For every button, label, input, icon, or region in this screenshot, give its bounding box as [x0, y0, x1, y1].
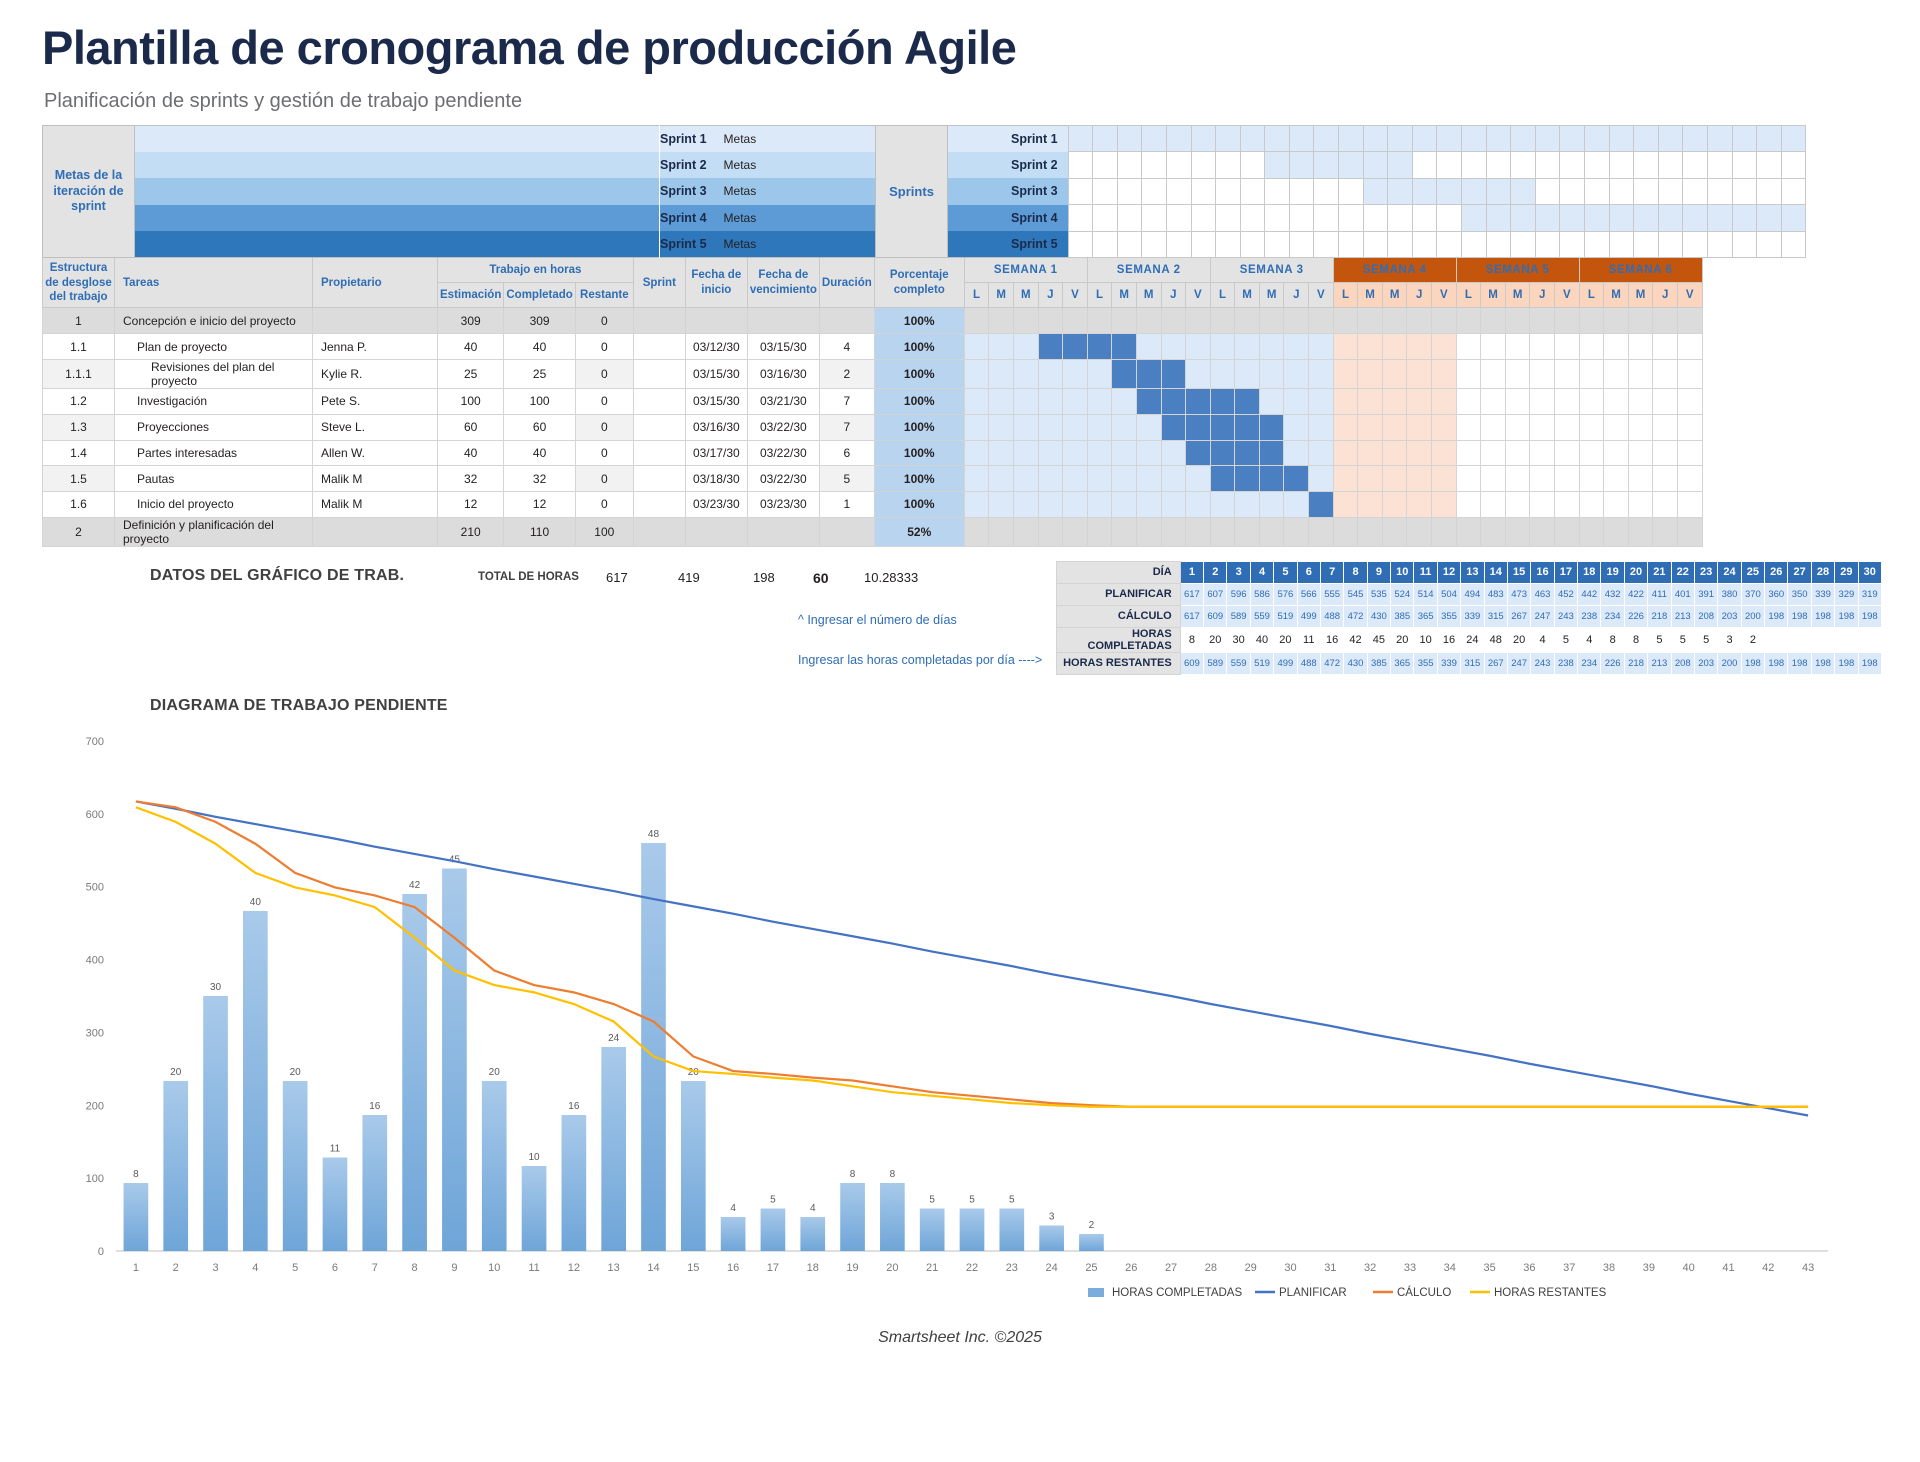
gantt-cell[interactable]	[1407, 517, 1432, 546]
gantt-cell[interactable]	[1112, 466, 1137, 492]
cell-owner[interactable]: Malik M	[313, 466, 438, 492]
sprint-timeline-cell[interactable]	[1437, 231, 1462, 258]
gantt-cell[interactable]	[1432, 414, 1457, 440]
gantt-bar-cell[interactable]	[1186, 440, 1211, 466]
hours-completed-cell[interactable]: 40	[1250, 627, 1273, 652]
cell-owner[interactable]: Kylie R.	[313, 359, 438, 388]
sprint-timeline-cell-filled[interactable]	[1388, 125, 1413, 152]
gantt-cell[interactable]	[1186, 359, 1211, 388]
gantt-cell[interactable]	[1309, 517, 1334, 546]
gantt-cell[interactable]	[1112, 492, 1137, 518]
gantt-bar-cell[interactable]	[1161, 359, 1186, 388]
gantt-cell[interactable]	[1579, 414, 1604, 440]
gantt-cell[interactable]	[1555, 517, 1580, 546]
sprint-timeline-cell[interactable]	[1609, 178, 1634, 205]
cell-sprint[interactable]	[633, 334, 685, 360]
sprint-timeline-cell-filled[interactable]	[1535, 205, 1560, 232]
sprint-timeline-cell[interactable]	[1658, 231, 1683, 258]
gantt-cell[interactable]	[1186, 517, 1211, 546]
sprint-timeline-cell[interactable]	[1388, 231, 1413, 258]
cell-start-date[interactable]: 03/15/30	[685, 359, 747, 388]
sprint-timeline-cell-filled[interactable]	[1634, 205, 1659, 232]
cell-task[interactable]: Plan de proyecto	[115, 334, 313, 360]
gantt-cell[interactable]	[1284, 517, 1309, 546]
gantt-cell[interactable]	[1530, 359, 1555, 388]
cell-due-date[interactable]: 03/15/30	[747, 334, 819, 360]
gantt-cell[interactable]	[1604, 388, 1629, 414]
sprint-timeline-cell[interactable]	[1068, 178, 1093, 205]
gantt-cell[interactable]	[1481, 414, 1506, 440]
gantt-cell[interactable]	[1063, 492, 1088, 518]
gantt-cell[interactable]	[1628, 359, 1653, 388]
gantt-cell[interactable]	[1628, 492, 1653, 518]
gantt-cell[interactable]	[1456, 466, 1481, 492]
table-row[interactable]: 1.6Inicio del proyectoMalik M1212003/23/…	[43, 492, 1703, 518]
sprint-timeline-cell-filled[interactable]	[1289, 125, 1314, 152]
sprint-timeline-cell[interactable]	[1068, 231, 1093, 258]
gantt-cell[interactable]	[1456, 440, 1481, 466]
cell-completed[interactable]: 110	[504, 517, 575, 546]
gantt-cell[interactable]	[1358, 414, 1383, 440]
gantt-cell[interactable]	[1382, 359, 1407, 388]
sprint-timeline-cell[interactable]	[1658, 152, 1683, 179]
gantt-cell[interactable]	[1481, 388, 1506, 414]
sprint-timeline-cell[interactable]	[1191, 231, 1216, 258]
gantt-cell[interactable]	[1505, 334, 1530, 360]
cell-task[interactable]: Partes interesadas	[115, 440, 313, 466]
gantt-cell[interactable]	[1382, 334, 1407, 360]
sprint-timeline-cell[interactable]	[1658, 178, 1683, 205]
gantt-cell[interactable]	[1481, 440, 1506, 466]
hours-completed-cell[interactable]: 16	[1320, 627, 1343, 652]
gantt-cell[interactable]	[1333, 334, 1358, 360]
cell-due-date[interactable]: 03/23/30	[747, 492, 819, 518]
gantt-cell[interactable]	[1382, 414, 1407, 440]
sprint-timeline-cell[interactable]	[1560, 231, 1585, 258]
gantt-cell[interactable]	[1628, 466, 1653, 492]
gantt-cell[interactable]	[1087, 308, 1112, 334]
gantt-cell[interactable]	[1653, 414, 1678, 440]
sprint-timeline-cell[interactable]	[1191, 152, 1216, 179]
sprint-timeline-cell[interactable]	[1757, 178, 1782, 205]
gantt-cell[interactable]	[1505, 466, 1530, 492]
gantt-cell[interactable]	[1456, 359, 1481, 388]
gantt-bar-cell[interactable]	[1210, 414, 1235, 440]
cell-sprint[interactable]	[633, 466, 685, 492]
gantt-bar-cell[interactable]	[1235, 388, 1260, 414]
cell-sprint[interactable]	[633, 388, 685, 414]
sprint-timeline-cell[interactable]	[1265, 178, 1290, 205]
gantt-cell[interactable]	[1530, 466, 1555, 492]
gantt-cell[interactable]	[1284, 492, 1309, 518]
sprint-timeline-cell[interactable]	[1732, 152, 1757, 179]
cell-wbs[interactable]: 1.3	[43, 414, 115, 440]
gantt-cell[interactable]	[989, 388, 1014, 414]
cell-completed[interactable]: 60	[504, 414, 575, 440]
cell-task[interactable]: Revisiones del plan del proyecto	[115, 359, 313, 388]
gantt-cell[interactable]	[1530, 414, 1555, 440]
gantt-bar-cell[interactable]	[1210, 440, 1235, 466]
gantt-cell[interactable]	[1235, 517, 1260, 546]
cell-task[interactable]: Inicio del proyecto	[115, 492, 313, 518]
gantt-cell[interactable]	[1284, 440, 1309, 466]
gantt-cell[interactable]	[1112, 308, 1137, 334]
gantt-cell[interactable]	[1604, 308, 1629, 334]
sprint-timeline-cell[interactable]	[1486, 152, 1511, 179]
gantt-cell[interactable]	[1382, 308, 1407, 334]
gantt-cell[interactable]	[1677, 388, 1702, 414]
cell-estimate[interactable]: 309	[438, 308, 504, 334]
sprint-timeline-cell[interactable]	[1240, 231, 1265, 258]
gantt-bar-cell[interactable]	[1186, 388, 1211, 414]
gantt-cell[interactable]	[1161, 492, 1186, 518]
cell-task[interactable]: Definición y planificación del proyecto	[115, 517, 313, 546]
gantt-cell[interactable]	[1063, 308, 1088, 334]
gantt-cell[interactable]	[1677, 414, 1702, 440]
sprint-timeline-cell-filled[interactable]	[1462, 125, 1487, 152]
gantt-cell[interactable]	[1087, 440, 1112, 466]
gantt-cell[interactable]	[1579, 359, 1604, 388]
sprint-timeline-cell[interactable]	[1781, 152, 1806, 179]
sprint-timeline-cell[interactable]	[1560, 178, 1585, 205]
sprint-timeline-cell-filled[interactable]	[1142, 125, 1167, 152]
sprint-timeline-cell-filled[interactable]	[1609, 125, 1634, 152]
hours-completed-cell[interactable]: 30	[1227, 627, 1250, 652]
sprint-timeline-cell[interactable]	[1683, 178, 1708, 205]
gantt-bar-cell[interactable]	[1112, 334, 1137, 360]
sprint-timeline-cell-filled[interactable]	[1117, 125, 1142, 152]
gantt-cell[interactable]	[1555, 440, 1580, 466]
sprint-timeline-cell[interactable]	[1142, 152, 1167, 179]
gantt-cell[interactable]	[1407, 492, 1432, 518]
gantt-cell[interactable]	[1653, 388, 1678, 414]
gantt-cell[interactable]	[1259, 308, 1284, 334]
gantt-cell[interactable]	[964, 492, 989, 518]
cell-start-date[interactable]: 03/17/30	[685, 440, 747, 466]
cell-start-date[interactable]: 03/15/30	[685, 388, 747, 414]
sprint-timeline-cell-filled[interactable]	[1314, 152, 1339, 179]
sprint-timeline-cell[interactable]	[1437, 205, 1462, 232]
sprint-timeline-cell-filled[interactable]	[1166, 125, 1191, 152]
gantt-cell[interactable]	[1161, 308, 1186, 334]
gantt-cell[interactable]	[1333, 388, 1358, 414]
sprint-timeline-cell[interactable]	[1117, 178, 1142, 205]
gantt-cell[interactable]	[1358, 466, 1383, 492]
sprint-timeline-cell[interactable]	[1437, 152, 1462, 179]
gantt-cell[interactable]	[964, 334, 989, 360]
gantt-cell[interactable]	[1382, 492, 1407, 518]
gantt-bar-cell[interactable]	[1112, 359, 1137, 388]
gantt-cell[interactable]	[1432, 440, 1457, 466]
gantt-bar-cell[interactable]	[1284, 466, 1309, 492]
gantt-cell[interactable]	[1481, 466, 1506, 492]
gantt-cell[interactable]	[1530, 492, 1555, 518]
gantt-cell[interactable]	[1628, 388, 1653, 414]
hours-completed-cell[interactable]: 5	[1554, 627, 1577, 652]
sprint-timeline-cell-filled[interactable]	[1757, 205, 1782, 232]
gantt-cell[interactable]	[1186, 308, 1211, 334]
gantt-cell[interactable]	[1112, 414, 1137, 440]
gantt-cell[interactable]	[1481, 359, 1506, 388]
sprint-timeline-cell[interactable]	[1412, 231, 1437, 258]
sprint-timeline-cell[interactable]	[1511, 231, 1536, 258]
cell-completed[interactable]: 25	[504, 359, 575, 388]
sprint-timeline-cell-filled[interactable]	[1732, 125, 1757, 152]
gantt-cell[interactable]	[1677, 466, 1702, 492]
gantt-cell[interactable]	[1333, 359, 1358, 388]
sprint-timeline-cell-filled[interactable]	[1191, 125, 1216, 152]
hours-completed-cell[interactable]: 8	[1601, 627, 1624, 652]
cell-owner[interactable]: Steve L.	[313, 414, 438, 440]
sprint-timeline-cell-filled[interactable]	[1412, 125, 1437, 152]
gantt-cell[interactable]	[1407, 440, 1432, 466]
gantt-cell[interactable]	[1677, 308, 1702, 334]
cell-wbs[interactable]: 1.1	[43, 334, 115, 360]
sprint-timeline-cell-filled[interactable]	[1535, 125, 1560, 152]
gantt-cell[interactable]	[1628, 334, 1653, 360]
cell-wbs[interactable]: 1.2	[43, 388, 115, 414]
gantt-cell[interactable]	[1604, 492, 1629, 518]
gantt-cell[interactable]	[1136, 334, 1161, 360]
sprint-timeline-cell-filled[interactable]	[1216, 125, 1241, 152]
gantt-cell[interactable]	[1063, 440, 1088, 466]
gantt-cell[interactable]	[964, 308, 989, 334]
hours-completed-cell[interactable]: 24	[1461, 627, 1484, 652]
sprint-goal-text[interactable]: Metas	[716, 125, 876, 152]
gantt-cell[interactable]	[1013, 414, 1038, 440]
gantt-cell[interactable]	[1161, 517, 1186, 546]
gantt-cell[interactable]	[1063, 359, 1088, 388]
sprint-timeline-cell[interactable]	[1068, 152, 1093, 179]
gantt-cell[interactable]	[1259, 334, 1284, 360]
gantt-cell[interactable]	[1013, 388, 1038, 414]
cell-owner[interactable]: Jenna P.	[313, 334, 438, 360]
sprint-timeline-cell-filled[interactable]	[1560, 125, 1585, 152]
cell-due-date[interactable]: 03/16/30	[747, 359, 819, 388]
sprint-timeline-cell[interactable]	[1462, 231, 1487, 258]
gantt-bar-cell[interactable]	[1259, 466, 1284, 492]
sprint-timeline-cell[interactable]	[1068, 205, 1093, 232]
sprint-timeline-cell[interactable]	[1339, 205, 1364, 232]
gantt-cell[interactable]	[989, 466, 1014, 492]
gantt-cell[interactable]	[1235, 334, 1260, 360]
gantt-cell[interactable]	[1677, 517, 1702, 546]
cell-task[interactable]: Pautas	[115, 466, 313, 492]
gantt-bar-cell[interactable]	[1038, 334, 1063, 360]
cell-estimate[interactable]: 40	[438, 334, 504, 360]
sprint-timeline-cell-filled[interactable]	[1363, 152, 1388, 179]
gantt-cell[interactable]	[1432, 359, 1457, 388]
sprint-timeline-cell[interactable]	[1142, 231, 1167, 258]
gantt-cell[interactable]	[1604, 440, 1629, 466]
sprint-timeline-cell-filled[interactable]	[1314, 125, 1339, 152]
gantt-cell[interactable]	[1604, 414, 1629, 440]
cell-sprint[interactable]	[633, 517, 685, 546]
cell-completed[interactable]: 12	[504, 492, 575, 518]
gantt-bar-cell[interactable]	[1136, 388, 1161, 414]
table-row[interactable]: 1.1.1Revisiones del plan del proyectoKyl…	[43, 359, 1703, 388]
gantt-cell[interactable]	[1604, 334, 1629, 360]
gantt-cell[interactable]	[1087, 388, 1112, 414]
cell-owner[interactable]: Allen W.	[313, 440, 438, 466]
gantt-cell[interactable]	[989, 359, 1014, 388]
cell-estimate[interactable]: 12	[438, 492, 504, 518]
gantt-cell[interactable]	[1604, 466, 1629, 492]
gantt-cell[interactable]	[1481, 308, 1506, 334]
gantt-cell[interactable]	[1653, 308, 1678, 334]
gantt-cell[interactable]	[964, 414, 989, 440]
hours-completed-cell[interactable]: 16	[1437, 627, 1460, 652]
sprint-timeline-cell[interactable]	[1363, 205, 1388, 232]
gantt-cell[interactable]	[1530, 388, 1555, 414]
gantt-cell[interactable]	[1653, 492, 1678, 518]
gantt-cell[interactable]	[1358, 334, 1383, 360]
hours-completed-cell[interactable]	[1811, 627, 1834, 652]
gantt-cell[interactable]	[1013, 466, 1038, 492]
table-row[interactable]: 2Definición y planificación del proyecto…	[43, 517, 1703, 546]
sprint-timeline-cell-filled[interactable]	[1486, 205, 1511, 232]
gantt-cell[interactable]	[1456, 308, 1481, 334]
cell-wbs[interactable]: 1.5	[43, 466, 115, 492]
sprint-timeline-cell-filled[interactable]	[1388, 152, 1413, 179]
gantt-cell[interactable]	[1382, 388, 1407, 414]
gantt-cell[interactable]	[1309, 466, 1334, 492]
hours-completed-cell[interactable]: 3	[1718, 627, 1741, 652]
gantt-cell[interactable]	[1358, 308, 1383, 334]
gantt-cell[interactable]	[1407, 466, 1432, 492]
sprint-timeline-cell[interactable]	[1363, 231, 1388, 258]
gantt-cell[interactable]	[1259, 359, 1284, 388]
cell-owner[interactable]	[313, 308, 438, 334]
sprint-timeline-cell-filled[interactable]	[1585, 125, 1610, 152]
gantt-bar-cell[interactable]	[1309, 492, 1334, 518]
gantt-cell[interactable]	[1087, 517, 1112, 546]
gantt-cell[interactable]	[1456, 334, 1481, 360]
sprint-timeline-cell[interactable]	[1412, 205, 1437, 232]
cell-estimate[interactable]: 210	[438, 517, 504, 546]
gantt-cell[interactable]	[1505, 359, 1530, 388]
cell-wbs[interactable]: 1.6	[43, 492, 115, 518]
hours-completed-cell[interactable]: 45	[1367, 627, 1390, 652]
sprint-timeline-cell-filled[interactable]	[1265, 125, 1290, 152]
hours-completed-cell[interactable]: 5	[1671, 627, 1694, 652]
gantt-bar-cell[interactable]	[1235, 440, 1260, 466]
sprint-timeline-cell[interactable]	[1240, 178, 1265, 205]
gantt-cell[interactable]	[1309, 308, 1334, 334]
sprint-timeline-cell[interactable]	[1535, 152, 1560, 179]
sprint-timeline-cell[interactable]	[1166, 231, 1191, 258]
sprint-goal-text[interactable]: Metas	[716, 152, 876, 179]
gantt-cell[interactable]	[1259, 492, 1284, 518]
sprint-timeline-cell-filled[interactable]	[1265, 152, 1290, 179]
gantt-cell[interactable]	[1358, 492, 1383, 518]
hours-completed-cell[interactable]: 48	[1484, 627, 1507, 652]
hours-completed-cell[interactable]: 5	[1648, 627, 1671, 652]
sprint-timeline-cell[interactable]	[1142, 205, 1167, 232]
cell-sprint[interactable]	[633, 492, 685, 518]
gantt-cell[interactable]	[964, 466, 989, 492]
gantt-cell[interactable]	[1161, 466, 1186, 492]
cell-sprint[interactable]	[633, 308, 685, 334]
table-row[interactable]: 1.5PautasMalik M3232003/18/3003/22/30510…	[43, 466, 1703, 492]
gantt-cell[interactable]	[1407, 359, 1432, 388]
gantt-cell[interactable]	[1186, 334, 1211, 360]
gantt-cell[interactable]	[1653, 466, 1678, 492]
gantt-cell[interactable]	[1333, 517, 1358, 546]
gantt-cell[interactable]	[1628, 308, 1653, 334]
gantt-cell[interactable]	[1432, 517, 1457, 546]
gantt-cell[interactable]	[1432, 388, 1457, 414]
gantt-cell[interactable]	[1186, 466, 1211, 492]
cell-start-date[interactable]	[685, 517, 747, 546]
gantt-cell[interactable]	[1432, 466, 1457, 492]
gantt-cell[interactable]	[1259, 388, 1284, 414]
cell-due-date[interactable]	[747, 517, 819, 546]
sprint-timeline-cell[interactable]	[1585, 152, 1610, 179]
gantt-cell[interactable]	[1136, 492, 1161, 518]
sprint-timeline-cell-filled[interactable]	[1462, 205, 1487, 232]
gantt-cell[interactable]	[1063, 466, 1088, 492]
gantt-cell[interactable]	[1333, 492, 1358, 518]
gantt-cell[interactable]	[1530, 440, 1555, 466]
cell-due-date[interactable]: 03/22/30	[747, 466, 819, 492]
sprint-timeline-cell-filled[interactable]	[1707, 205, 1732, 232]
gantt-cell[interactable]	[1284, 334, 1309, 360]
gantt-cell[interactable]	[1358, 440, 1383, 466]
gantt-cell[interactable]	[1653, 334, 1678, 360]
sprint-timeline-cell[interactable]	[1314, 205, 1339, 232]
cell-sprint[interactable]	[633, 359, 685, 388]
sprint-timeline-cell[interactable]	[1265, 205, 1290, 232]
sprint-timeline-cell[interactable]	[1289, 178, 1314, 205]
sprint-timeline-cell-filled[interactable]	[1339, 125, 1364, 152]
gantt-cell[interactable]	[1505, 414, 1530, 440]
gantt-cell[interactable]	[1013, 334, 1038, 360]
gantt-cell[interactable]	[1309, 414, 1334, 440]
gantt-cell[interactable]	[1186, 492, 1211, 518]
gantt-cell[interactable]	[1038, 440, 1063, 466]
sprint-timeline-cell-filled[interactable]	[1363, 178, 1388, 205]
sprint-timeline-cell[interactable]	[1511, 152, 1536, 179]
gantt-cell[interactable]	[1407, 414, 1432, 440]
sprint-timeline-cell-filled[interactable]	[1437, 125, 1462, 152]
sprint-timeline-cell-filled[interactable]	[1683, 205, 1708, 232]
table-row[interactable]: 1.2InvestigaciónPete S.100100003/15/3003…	[43, 388, 1703, 414]
gantt-cell[interactable]	[1210, 517, 1235, 546]
gantt-cell[interactable]	[1161, 334, 1186, 360]
gantt-cell[interactable]	[1309, 440, 1334, 466]
gantt-cell[interactable]	[1112, 440, 1137, 466]
hours-completed-cell[interactable]: 5	[1694, 627, 1717, 652]
cell-estimate[interactable]: 25	[438, 359, 504, 388]
gantt-cell[interactable]	[1013, 517, 1038, 546]
cell-start-date[interactable]: 03/12/30	[685, 334, 747, 360]
gantt-cell[interactable]	[1604, 359, 1629, 388]
gantt-cell[interactable]	[989, 492, 1014, 518]
gantt-cell[interactable]	[1677, 492, 1702, 518]
sprint-timeline-cell[interactable]	[1339, 178, 1364, 205]
sprint-timeline-cell[interactable]	[1634, 152, 1659, 179]
sprint-timeline-cell-filled[interactable]	[1732, 205, 1757, 232]
gantt-cell[interactable]	[1481, 492, 1506, 518]
sprint-timeline-cell[interactable]	[1216, 178, 1241, 205]
gantt-cell[interactable]	[1136, 414, 1161, 440]
gantt-cell[interactable]	[1063, 517, 1088, 546]
gantt-cell[interactable]	[989, 308, 1014, 334]
hours-completed-cell[interactable]: 8	[1624, 627, 1647, 652]
sprint-timeline-cell-filled[interactable]	[1240, 125, 1265, 152]
gantt-cell[interactable]	[1038, 308, 1063, 334]
